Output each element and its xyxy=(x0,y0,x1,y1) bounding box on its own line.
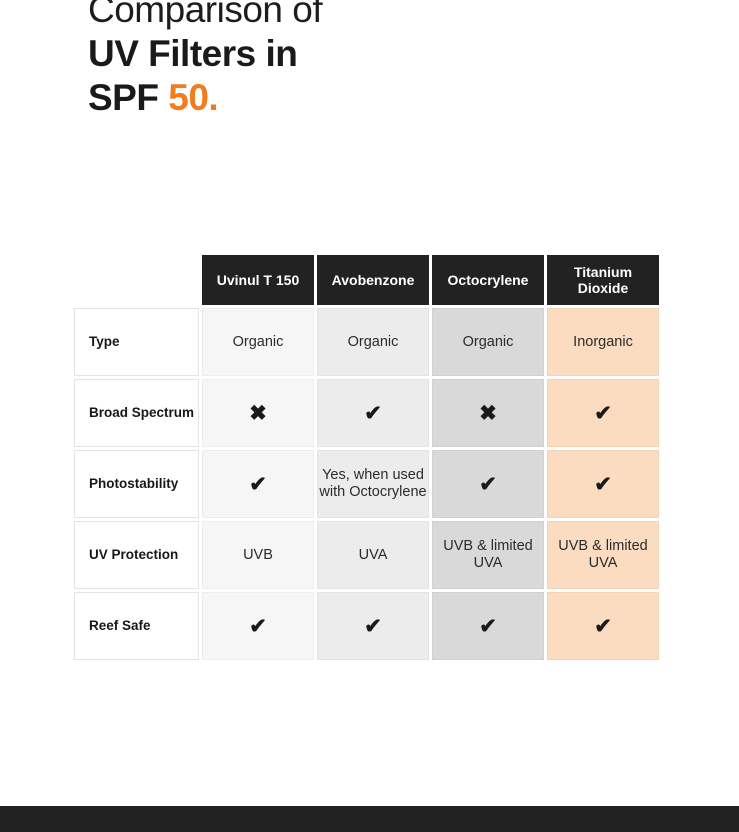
cell-broad-spectrum-octocrylene: ✖ xyxy=(432,379,544,447)
cell-broad-spectrum-avobenzone: ✔ xyxy=(317,379,429,447)
column-header-1: Uvinul T 150 xyxy=(202,255,314,305)
page-title-spf-text: SPF xyxy=(88,77,168,118)
table-row: Photostability ✔ Yes, when used with Oct… xyxy=(74,450,666,518)
row-label-broad-spectrum: Broad Spectrum xyxy=(74,379,199,447)
cell-photostability-avobenzone: Yes, when used with Octocrylene xyxy=(317,450,429,518)
page-title-spf-value: 50. xyxy=(168,77,218,118)
table-corner-cell xyxy=(74,255,199,305)
column-header-4: Titanium Dioxide xyxy=(547,255,659,305)
cell-uv-protection-avobenzone: UVA xyxy=(317,521,429,589)
cell-type-octocrylene: Organic xyxy=(432,308,544,376)
row-label-uv-protection: UV Protection xyxy=(74,521,199,589)
cell-uv-protection-uvinul: UVB xyxy=(202,521,314,589)
footer-bar xyxy=(0,806,739,832)
column-header-2: Avobenzone xyxy=(317,255,429,305)
cell-type-titanium-dioxide: Inorganic xyxy=(547,308,659,376)
cell-reef-safe-octocrylene: ✔ xyxy=(432,592,544,660)
table-row: Broad Spectrum ✖ ✔ ✖ ✔ xyxy=(74,379,666,447)
cell-uv-protection-titanium-dioxide: UVB & limited UVA xyxy=(547,521,659,589)
comparison-table: Uvinul T 150 Avobenzone Octocrylene Tita… xyxy=(74,255,666,663)
row-label-reef-safe: Reef Safe xyxy=(74,592,199,660)
cell-photostability-octocrylene: ✔ xyxy=(432,450,544,518)
cell-type-uvinul: Organic xyxy=(202,308,314,376)
table-header-row: Uvinul T 150 Avobenzone Octocrylene Tita… xyxy=(74,255,666,305)
cell-reef-safe-uvinul: ✔ xyxy=(202,592,314,660)
cell-reef-safe-titanium-dioxide: ✔ xyxy=(547,592,659,660)
cell-broad-spectrum-titanium-dioxide: ✔ xyxy=(547,379,659,447)
page-title-line-1: Comparison of xyxy=(88,0,588,32)
row-label-photostability: Photostability xyxy=(74,450,199,518)
cell-broad-spectrum-uvinul: ✖ xyxy=(202,379,314,447)
cell-type-avobenzone: Organic xyxy=(317,308,429,376)
cell-reef-safe-avobenzone: ✔ xyxy=(317,592,429,660)
cell-photostability-uvinul: ✔ xyxy=(202,450,314,518)
table-row: Type Organic Organic Organic Inorganic xyxy=(74,308,666,376)
cell-photostability-titanium-dioxide: ✔ xyxy=(547,450,659,518)
row-label-type: Type xyxy=(74,308,199,376)
table-row: UV Protection UVB UVA UVB & limited UVA … xyxy=(74,521,666,589)
page-title: Comparison of UV Filters in SPF 50. xyxy=(88,0,588,120)
page-title-line-2: UV Filters in xyxy=(88,32,588,76)
page-title-line-3: SPF 50. xyxy=(88,76,588,120)
cell-uv-protection-octocrylene: UVB & limited UVA xyxy=(432,521,544,589)
table-row: Reef Safe ✔ ✔ ✔ ✔ xyxy=(74,592,666,660)
column-header-3: Octocrylene xyxy=(432,255,544,305)
